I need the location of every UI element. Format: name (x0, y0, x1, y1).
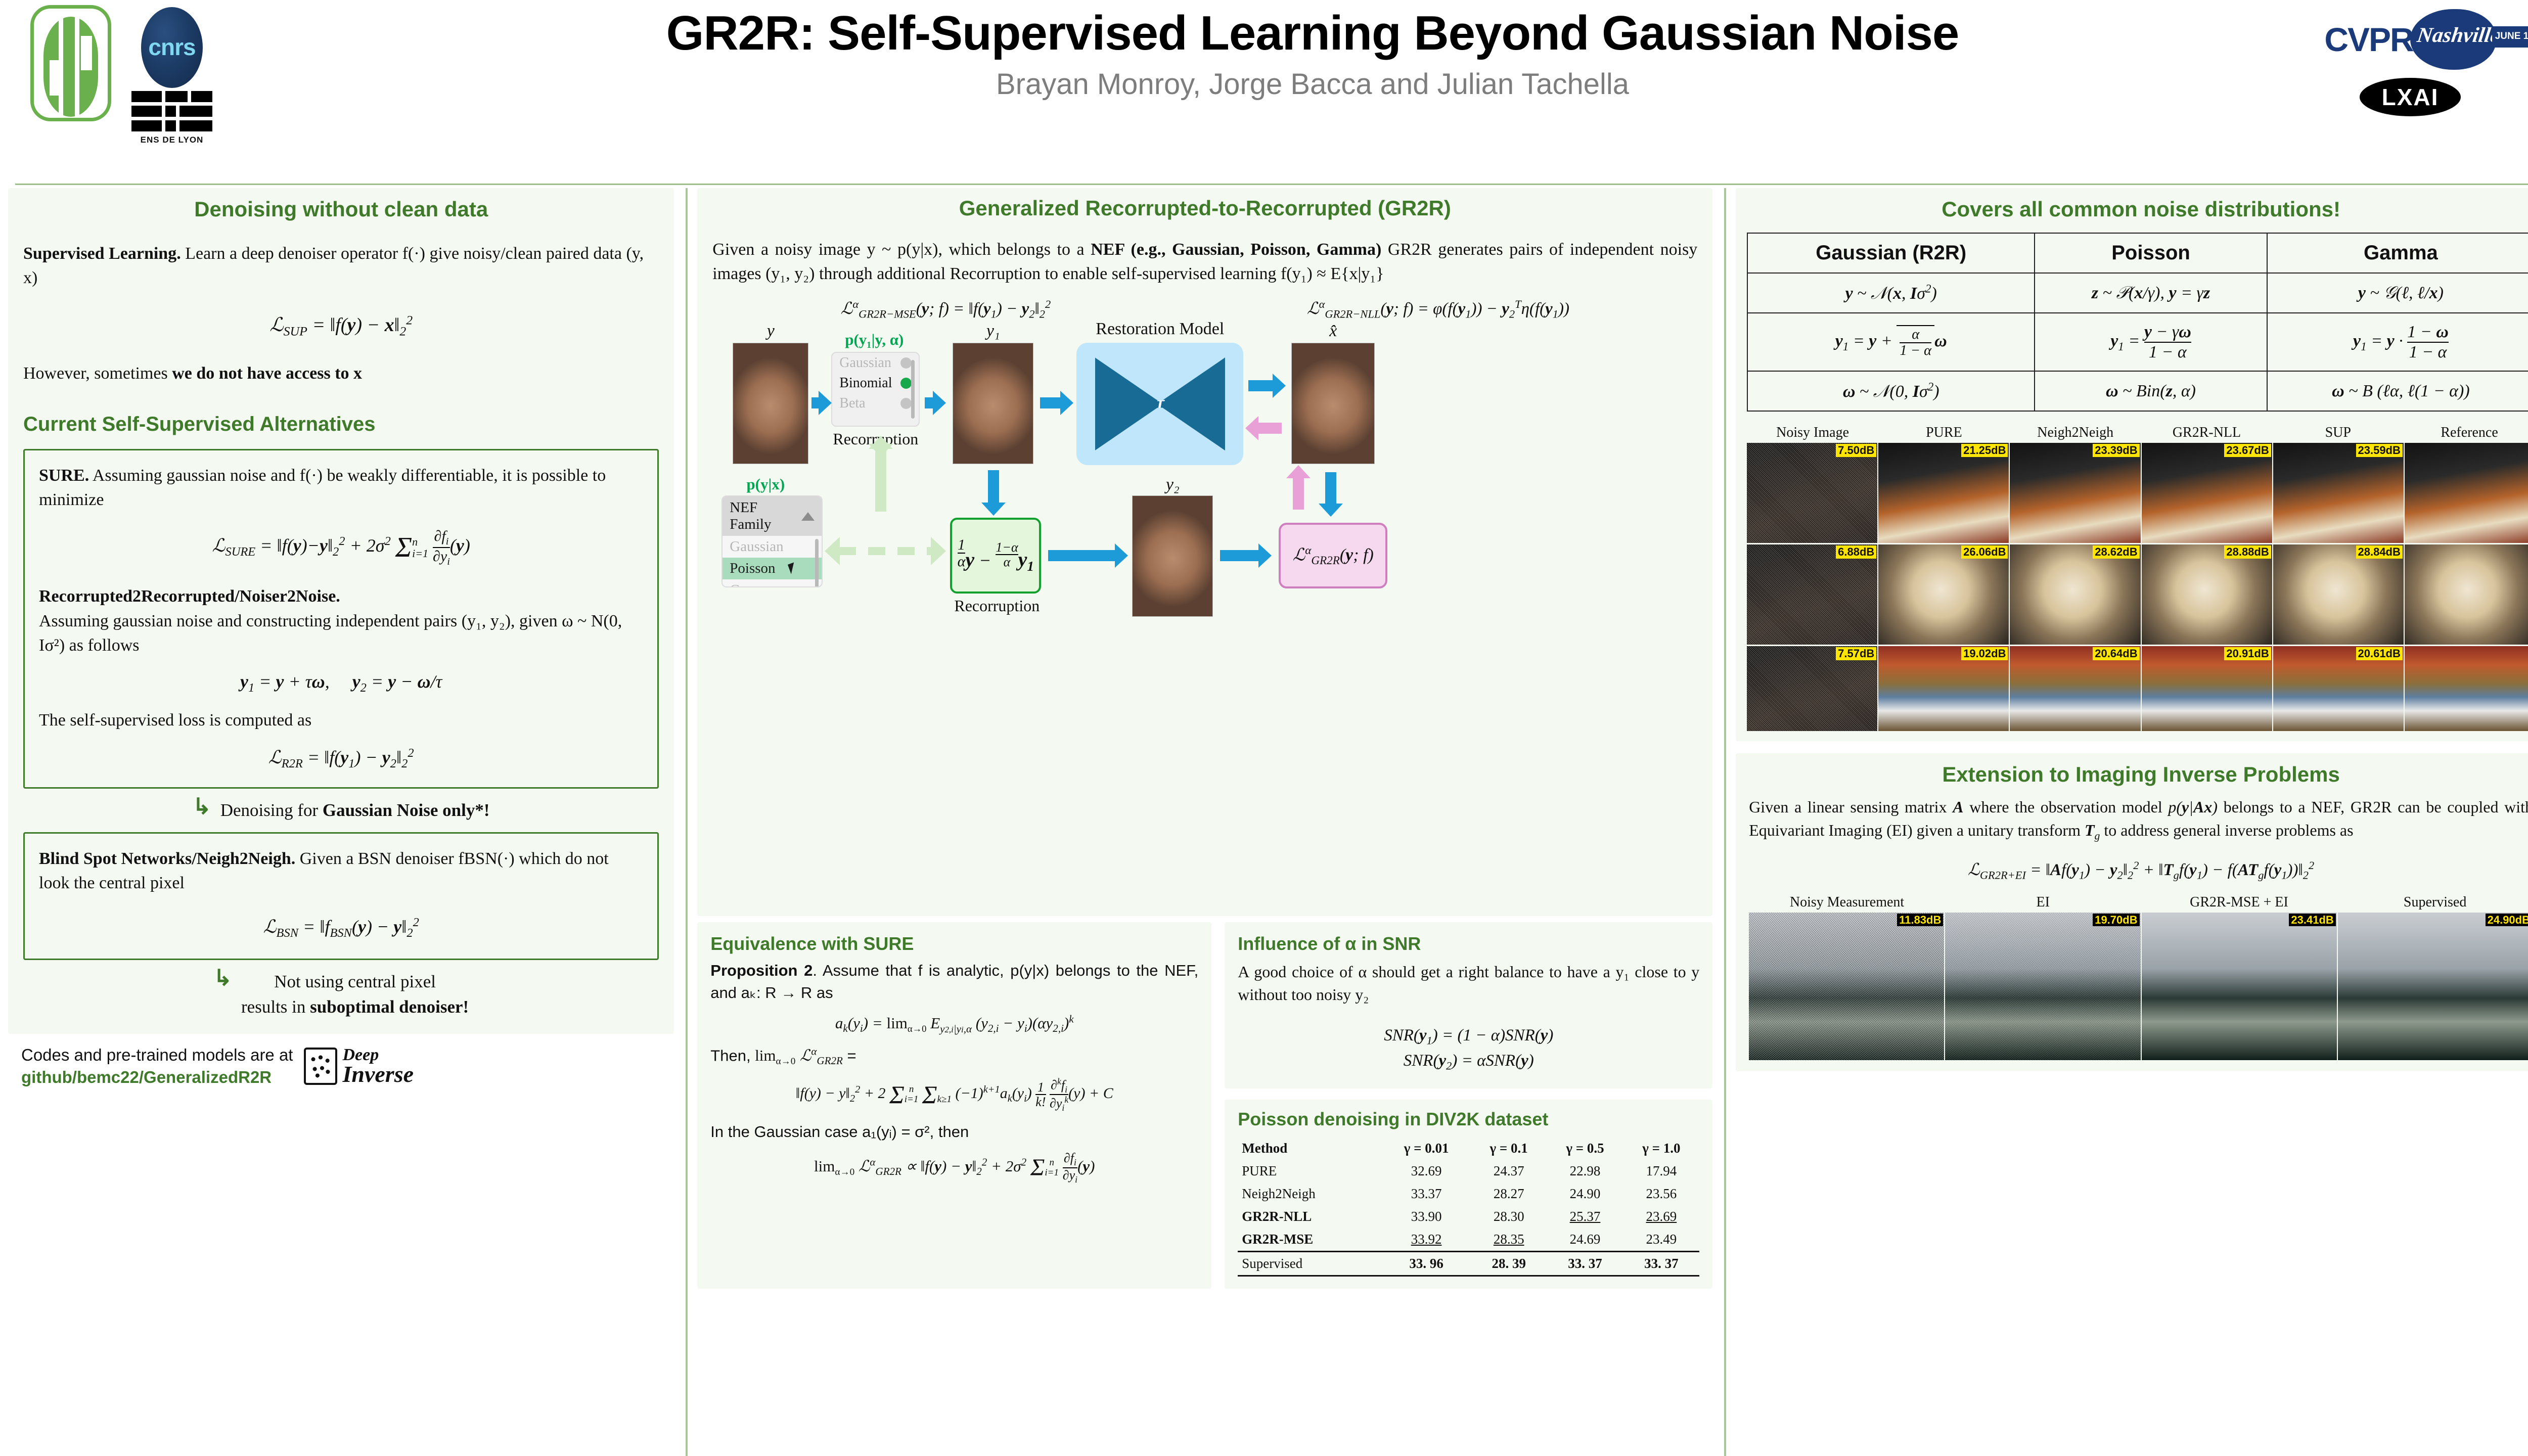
note1-prefix: Denoising for (220, 800, 323, 820)
hook-arrow-icon-2: ↳ (213, 969, 232, 987)
sure-text: Assuming gaussian noise and f(·) be weak… (39, 466, 606, 509)
diagram-label-y2: y₂ (1132, 475, 1213, 494)
cvpr-dates-label: JUNE 11-15, 2025 (2495, 31, 2528, 42)
codes-link[interactable]: github/bemc22/GeneralizedR2R (21, 1068, 272, 1086)
recorruption-option-binomial-label: Binomial (839, 375, 892, 391)
psnr-badge: 28.84dB (2356, 545, 2403, 558)
header-divider (15, 184, 2528, 185)
cell-value: 33. 96 (1382, 1252, 1471, 1276)
poster-root: cnrs ENS DE LYON GR2R: Self-Supervised L… (0, 0, 2528, 1456)
col-gaussian: Gaussian (R2R) (1747, 233, 2035, 273)
cell-poisson-model: z ~ 𝒫(x/γ), y = γz (2035, 273, 2267, 313)
diagram-label-y1: y₁ (953, 322, 1033, 341)
cell-value: 22.98 (1547, 1160, 1623, 1182)
section-title-alternatives: Current Self-Supervised Alternatives (23, 413, 659, 436)
ghost-arrow-left-icon (825, 537, 840, 565)
result-cell: 19.02dB (1878, 646, 2009, 731)
grid-label-pure: PURE (1878, 425, 2010, 441)
equation-bsn: ℒBSN = ‖fBSN(y) − y‖22 (39, 916, 643, 940)
cell-poisson-y1: y1 = y − γω1 − α (2035, 313, 2267, 371)
poster-columns: Denoising without clean data Supervised … (0, 188, 2528, 1456)
cell-gaussian-model: y ~ 𝒩(x, Iσ2) (1747, 273, 2035, 313)
grid-label-sup: SUP (2272, 425, 2404, 441)
gr2r-loss-equations: ℒαGR2R−MSE(y; f) = ‖f(y1) − y2‖22 ℒαGR2R… (712, 298, 1697, 321)
equation-r2r: ℒR2R = ‖f(y1) − y2‖22 (39, 746, 643, 771)
result-cell (2405, 443, 2528, 543)
result-cell: 7.57dB (1747, 646, 1877, 731)
arrow-y2-to-loss (1220, 550, 1259, 561)
cell-value: 28.30 (1471, 1205, 1547, 1228)
arrow-xhat-to-model (1257, 423, 1282, 434)
radio-icon-binomial[interactable] (900, 378, 912, 389)
result-cell (2405, 544, 2528, 645)
inverse-cell: 19.70dB (1945, 913, 2140, 1060)
equation-sure: ℒSURE = ‖f(y)−y‖22 + 2σ2 Σni=1 ∂fi∂yi(y) (39, 528, 643, 568)
page-title: GR2R: Self-Supervised Learning Beyond Ga… (354, 8, 2271, 59)
lxai-logo-icon: LXAI (2360, 78, 2461, 116)
section-title-equivalence: Equivalence with SURE (710, 933, 1198, 954)
cell-value: 33.90 (1382, 1205, 1471, 1228)
inv-label-supervised: Supervised (2337, 894, 2528, 911)
result-cell: 20.61dB (2273, 646, 2404, 731)
psnr-badge: 26.06dB (1961, 545, 2008, 558)
deepinverse-icon (304, 1048, 337, 1085)
inverse-cell: 24.90dB (2338, 913, 2528, 1060)
cell-gamma-y1: y1 = y · 1 − ω1 − α (2267, 313, 2528, 371)
model-f-label: f (1156, 388, 1164, 420)
arrow-xhat-down (1325, 472, 1336, 505)
psnr-badge: 20.91dB (2224, 647, 2271, 660)
diagram-image-y1 (953, 343, 1033, 464)
results-row-temple: 7.57dB 19.02dB 20.64dB 20.91dB 20.61dB (1747, 646, 2528, 731)
note2-line2-bold: suboptimal denoiser! (310, 997, 469, 1017)
cell-value: 28. 39 (1471, 1252, 1547, 1276)
cell-value: 24.37 (1471, 1160, 1547, 1182)
ghost-dashed-line (839, 547, 940, 555)
loss-box-label: ℒαGR2R(y; f) (1293, 544, 1374, 568)
supervised-learning-paragraph: Supervised Learning. Learn a deep denois… (23, 242, 659, 291)
cell-method: Supervised (1238, 1252, 1382, 1276)
inverse-row: 11.83dB 19.70dB 23.41dB 24.90dB (1749, 913, 2528, 1060)
cell-value: 25.37 (1547, 1205, 1623, 1228)
cell-gamma-model: y ~ 𝒢(ℓ, ℓ/x) (2267, 273, 2528, 313)
lxai-label: LXAI (2382, 83, 2439, 111)
note1-bold: Gaussian Noise only*! (323, 800, 490, 820)
equation-gr2r-ei: ℒGR2R+EI = ‖Af(y1) − y2‖22 + ‖Tgf(y1) − … (1749, 859, 2528, 882)
cell-method: Neigh2Neigh (1238, 1182, 1382, 1205)
panel-equivalence-sure: Equivalence with SURE Proposition 2. Ass… (697, 922, 1211, 1289)
bsn-lead: Blind Spot Networks/Neigh2Neigh. (39, 849, 295, 868)
cell-value: 33.37 (1382, 1182, 1471, 1205)
psnr-badge: 23.59dB (2356, 444, 2403, 457)
psnr-badge: 20.64dB (2093, 647, 2139, 660)
section-title-snr: Influence of α in SNR (1238, 933, 1699, 954)
inverse-cell: 23.41dB (2142, 913, 2337, 1060)
inverse-cell: 11.83dB (1749, 913, 1944, 1060)
gr2r-p1: Given a noisy image y ~ p(y|x), which be… (712, 240, 1091, 259)
inverse-grid-labels: Noisy Measurement EI GR2R-MSE + EI Super… (1749, 894, 2528, 911)
ghost-arrow-up (875, 448, 886, 512)
however-bold: we do not have access to x (172, 364, 362, 383)
panel-noise-distributions: Covers all common noise distributions! G… (1736, 188, 2528, 741)
arrow-recorruption-to-y1 (925, 397, 934, 408)
column-middle: Generalized Recorrupted-to-Recorrupted (… (697, 188, 1712, 1456)
table-row: Supervised 33. 96 28. 39 33. 37 33. 37 (1238, 1252, 1699, 1276)
title-block: GR2R: Self-Supervised Learning Beyond Ga… (354, 8, 2271, 101)
gr2r-paragraph: Given a noisy image y ~ p(y|x), which be… (712, 238, 1697, 287)
nef-option-gamma[interactable]: Gamma (723, 579, 822, 587)
right-logos: CVPR Nashville JUNE 11-15, 2025 LXAI (2291, 9, 2528, 116)
psnr-badge: 28.62dB (2093, 545, 2139, 558)
cnrs-ens-logos: cnrs ENS DE LYON (131, 7, 212, 145)
diagram-prob-y: p(y|x) (717, 475, 814, 493)
recorruption-scrollbar[interactable] (911, 360, 915, 419)
nef-dropdown-header[interactable]: NEF Family (723, 496, 822, 536)
r2r-paragraph: Recorrupted2Recorrupted/Noiser2Noise. As… (39, 584, 643, 658)
cell-value: 32.69 (1382, 1160, 1471, 1182)
hook-arrow-icon: ↳ (193, 798, 211, 815)
gaussian-case-line: In the Gaussian case a₁(yᵢ) = σ², then (710, 1121, 1198, 1143)
psnr-badge: 20.61dB (2356, 647, 2403, 660)
column-left: Denoising without clean data Supervised … (8, 188, 674, 1456)
nef-header-label: NEF Family (730, 499, 801, 533)
supervised-lead: Supervised Learning. (23, 244, 181, 263)
poster-header: cnrs ENS DE LYON GR2R: Self-Supervised L… (0, 0, 2528, 187)
equation-gr2r-nll: ℒαGR2R−NLL(y; f) = φ(f(y1)) − y2Tη(f(y1)… (1307, 298, 1569, 321)
cell-value: 24.90 (1547, 1182, 1623, 1205)
nef-option-poisson[interactable]: Poisson (723, 558, 822, 579)
table-row: GR2R-MSE 33.92 28.35 24.69 23.49 (1238, 1228, 1699, 1252)
note-suboptimal: ↳ Not using central pixel results in sub… (23, 969, 659, 1019)
nef-option-gaussian[interactable]: Gaussian (723, 536, 822, 558)
section-title-distributions: Covers all common noise distributions! (1747, 197, 2528, 221)
inverse-image-grid: Noisy Measurement EI GR2R-MSE + EI Super… (1749, 894, 2528, 1060)
cell-method: PURE (1238, 1160, 1382, 1182)
inv-label-gr2rmse-ei: GR2R-MSE + EI (2141, 894, 2337, 911)
arrow-y1-down (988, 470, 999, 504)
cnrs-label: cnrs (141, 33, 203, 61)
panel-inverse-problems: Extension to Imaging Inverse Problems Gi… (1736, 753, 2528, 1071)
equation-pair: y1 = y + τω, y2 = y − ω/τ (39, 671, 643, 695)
grid-label-gr2rnll: GR2R-NLL (2141, 425, 2273, 441)
psnr-badge: 24.90dB (2486, 914, 2528, 926)
cell-method: GR2R-MSE (1238, 1228, 1382, 1252)
cell-value: 23.56 (1623, 1182, 1699, 1205)
recorruption-selector[interactable]: Gaussian Binomial Beta (831, 352, 920, 427)
cell-value: 28.27 (1471, 1182, 1547, 1205)
section-title-denoising: Denoising without clean data (23, 197, 659, 221)
section-title-extension: Extension to Imaging Inverse Problems (1749, 762, 2528, 787)
note2-line1: Not using central pixel (274, 972, 436, 991)
table-row: y1 = y + α1 − αω y1 = y − γω1 − α y1 = y… (1747, 313, 2528, 371)
col-g10: γ = 1.0 (1623, 1137, 1699, 1160)
arrow-y-to-recorruption (811, 397, 820, 408)
snr-paragraph: A good choice of α should get a right ba… (1238, 961, 1699, 1007)
note-gaussian-only: ↳ Denoising for Gaussian Noise only*! (23, 798, 659, 823)
results-image-grid: Noisy Image PURE Neigh2Neigh GR2R-NLL SU… (1747, 425, 2528, 731)
psnr-badge: 23.41dB (2289, 914, 2335, 926)
recorruption-option-gaussian[interactable]: Gaussian (832, 353, 919, 373)
table-header-row: Method γ = 0.01 γ = 0.1 γ = 0.5 γ = 1.0 (1238, 1137, 1699, 1160)
uis-logo-icon (30, 5, 111, 121)
results-grid-labels: Noisy Image PURE Neigh2Neigh GR2R-NLL SU… (1747, 425, 2528, 441)
cell-value: 17.94 (1623, 1160, 1699, 1182)
nef-family-dropdown[interactable]: NEF Family Gaussian Poisson Gamma (721, 495, 823, 587)
diagram-image-xhat (1291, 343, 1375, 464)
column-divider-2 (1712, 188, 1736, 1456)
results-row-food: 7.50dB 21.25dB 23.39dB 23.67dB 23.59dB (1747, 443, 2528, 543)
ens-logo-icon: ENS DE LYON (131, 91, 212, 145)
left-logos: cnrs ENS DE LYON (30, 5, 212, 145)
loss-intro: The self-supervised loss is computed as (39, 708, 643, 733)
equation-ak: ak(yi) = limα→0 Ey2,i|yi,α (y2,i − yi)(α… (710, 1013, 1198, 1035)
result-cell: 7.50dB (1747, 443, 1877, 543)
table-row: PURE 32.69 24.37 22.98 17.94 (1238, 1160, 1699, 1182)
result-cell: 23.67dB (2142, 443, 2272, 543)
table-row: ω ~ 𝒩(0, Iσ2) ω ~ Bin(z, α) ω ~ B (ℓα, ℓ… (1747, 371, 2528, 411)
column-right: Covers all common noise distributions! G… (1736, 188, 2528, 1456)
column-divider-1 (674, 188, 697, 1456)
sure-lead: SURE. (39, 466, 89, 485)
cell-poisson-omega: ω ~ Bin(z, α) (2035, 371, 2267, 411)
cell-value: 23.69 (1623, 1205, 1699, 1228)
panel-influence-alpha: Influence of α in SNR A good choice of α… (1225, 922, 1712, 1088)
equation-sup: ℒSUP = ‖f(y) − x‖22 (23, 313, 659, 339)
codes-line: Codes and pre-trained models are at (21, 1045, 293, 1064)
diagram-image-y2 (1132, 495, 1213, 617)
grid-label-n2n: Neigh2Neigh (2010, 425, 2141, 441)
inv-label-ei: EI (1945, 894, 2141, 911)
chevron-up-icon[interactable] (801, 512, 815, 521)
psnr-badge: 28.88dB (2224, 545, 2271, 558)
cell-value: 28.35 (1471, 1228, 1547, 1252)
equation-gauss-limit: limα→0 ℒαGR2R ∝ ‖f(y) − y‖22 + 2σ2 Σni=1… (710, 1151, 1198, 1185)
result-cell: 23.59dB (2273, 443, 2404, 543)
diagram-label-recorruption-bottom: Recorruption (942, 597, 1051, 615)
however-paragraph: However, sometimes we do not have access… (23, 361, 659, 386)
arrow-recorruption-to-y2 (1048, 550, 1116, 561)
section-title-div2k: Poisson denoising in DIV2K dataset (1238, 1109, 1699, 1130)
arrow-loss-up (1293, 477, 1304, 510)
r2r-lead: Recorrupted2Recorrupted/Noiser2Noise. (39, 587, 340, 606)
author-list: Brayan Monroy, Jorge Bacca and Julian Ta… (354, 67, 2271, 101)
cvpr-logo-icon: CVPR Nashville JUNE 11-15, 2025 (2324, 9, 2496, 70)
section-title-gr2r: Generalized Recorrupted-to-Recorrupted (… (712, 196, 1697, 220)
ghost-arrow-right-icon (931, 537, 946, 565)
r2r-text: Assuming gaussian noise and constructing… (39, 612, 622, 655)
psnr-badge: 7.57dB (1836, 647, 1876, 660)
results-row-rose: 6.88dB 26.06dB 28.62dB 28.88dB 28.84dB (1747, 544, 2528, 645)
inv-label-noisy: Noisy Measurement (1749, 894, 1945, 911)
mid-bottom-panels: Equivalence with SURE Proposition 2. Ass… (697, 922, 1712, 1289)
cell-value: 33. 37 (1547, 1252, 1623, 1276)
result-cell: 28.84dB (2273, 544, 2404, 645)
codes-row: Codes and pre-trained models are at gith… (8, 1044, 674, 1089)
panel-div2k: Poisson denoising in DIV2K dataset Metho… (1225, 1100, 1712, 1289)
cvpr-label: CVPR (2324, 20, 2413, 59)
table-row: Neigh2Neigh 33.37 28.27 24.90 23.56 (1238, 1182, 1699, 1205)
ens-label: ENS DE LYON (131, 135, 212, 145)
radio-icon-beta[interactable] (900, 398, 912, 409)
result-cell (2405, 646, 2528, 731)
recorruption-option-binomial[interactable]: Binomial (832, 373, 919, 393)
col-g01: γ = 0.1 (1471, 1137, 1547, 1160)
arrow-model-to-xhat (1248, 380, 1274, 391)
cell-value: 33.92 (1382, 1228, 1471, 1252)
psnr-badge: 7.50dB (1836, 444, 1876, 457)
panel-denoising-without-clean-data: Denoising without clean data Supervised … (8, 188, 674, 1034)
result-cell: 20.91dB (2142, 646, 2272, 731)
col-g001: γ = 0.01 (1382, 1137, 1471, 1160)
deepinverse-word-2: Inverse (342, 1063, 414, 1085)
cell-method: GR2R-NLL (1238, 1205, 1382, 1228)
sure-paragraph: SURE. Assuming gaussian noise and f(·) b… (39, 464, 643, 513)
equation-gr2r-mse: ℒαGR2R−MSE(y; f) = ‖f(y1) − y2‖22 (841, 298, 1051, 321)
col-poisson: Poisson (2035, 233, 2267, 273)
cell-gamma-omega: ω ~ B (ℓα, ℓ(1 − α)) (2267, 371, 2528, 411)
diagram-prob-y1: p(y₁|y, α) (816, 331, 932, 349)
psnr-badge: 23.67dB (2224, 444, 2271, 457)
restoration-model-block: f (1076, 343, 1243, 465)
extension-paragraph: Given a linear sensing matrix A where th… (1749, 796, 2528, 844)
psnr-badge: 19.02dB (1961, 647, 2008, 660)
result-cell: 28.62dB (2010, 544, 2140, 645)
cell-value: 33. 37 (1623, 1252, 1699, 1276)
deepinverse-logo: Deep Inverse (304, 1047, 414, 1086)
proposition-paragraph: Proposition 2. Assume that f is analytic… (710, 960, 1198, 1004)
note2-line2-prefix: results in (241, 997, 310, 1017)
bsn-paragraph: Blind Spot Networks/Neigh2Neigh. Given a… (39, 847, 643, 896)
proposition-lead: Proposition 2 (710, 962, 812, 979)
then-line: Then, limα→0 ℒαGR2R = (710, 1044, 1198, 1069)
result-cell: 6.88dB (1747, 544, 1877, 645)
div2k-results-table: Method γ = 0.01 γ = 0.1 γ = 0.5 γ = 1.0 … (1238, 1137, 1699, 1277)
recorruption-option-gaussian-label: Gaussian (839, 355, 891, 371)
recorruption-formula: 1αy − 1−ααy1 (958, 537, 1034, 575)
table-row: y ~ 𝒩(x, Iσ2) z ~ 𝒫(x/γ), y = γz y ~ 𝒢(ℓ… (1747, 273, 2528, 313)
nef-scrollbar[interactable] (815, 539, 819, 587)
box-sure-r2r: SURE. Assuming gaussian noise and f(·) b… (23, 449, 659, 789)
psnr-badge: 23.39dB (2093, 444, 2139, 457)
grid-label-reference: Reference (2404, 425, 2528, 441)
result-cell: 23.39dB (2010, 443, 2140, 543)
col-method: Method (1238, 1137, 1382, 1160)
however-text: However, sometimes (23, 364, 172, 383)
panel-gr2r: Generalized Recorrupted-to-Recorrupted (… (697, 188, 1712, 916)
grid-label-noisy: Noisy Image (1747, 425, 1878, 441)
cell-value: 24.69 (1547, 1228, 1623, 1252)
result-cell: 21.25dB (1878, 443, 2009, 543)
result-cell: 28.88dB (2142, 544, 2272, 645)
gr2r-p-bold: NEF (e.g., Gaussian, Poisson, Gamma) (1091, 240, 1381, 259)
psnr-badge: 6.88dB (1836, 545, 1876, 558)
cnrs-logo-icon: cnrs (141, 7, 203, 88)
table-row: GR2R-NLL 33.90 28.30 25.37 23.69 (1238, 1205, 1699, 1228)
result-cell: 20.64dB (2010, 646, 2140, 731)
diagram-image-y (733, 343, 808, 464)
box-bsn: Blind Spot Networks/Neigh2Neigh. Given a… (23, 832, 659, 961)
result-cell: 26.06dB (1878, 544, 2009, 645)
radio-icon-gaussian[interactable] (900, 357, 912, 369)
equation-expansion: ‖f(y) − y‖22 + 2 Σni=1 Σ k≥1 (−1)k+1ak(y… (710, 1077, 1198, 1113)
psnr-badge: 11.83dB (1897, 914, 1943, 926)
arrow-y1-to-model (1040, 397, 1061, 408)
recorruption-option-beta[interactable]: Beta (832, 393, 919, 414)
psnr-badge: 19.70dB (2093, 914, 2139, 926)
col-g05: γ = 0.5 (1547, 1137, 1623, 1160)
diagram-label-y: y (733, 322, 808, 341)
psnr-badge: 21.25dB (1961, 444, 2008, 457)
diagram-label-model: Restoration Model (1061, 320, 1258, 339)
cvpr-city-label: Nashville (2415, 23, 2501, 48)
equations-snr: SNR(y1) = (1 − α)SNR(y) SNR(y2) = αSNR(y… (1238, 1024, 1699, 1074)
gr2r-pipeline-diagram: y p(y₁|y, α) Gaussian Binomial Beta (712, 326, 1697, 629)
cell-gaussian-y1: y1 = y + α1 − αω (1747, 313, 2035, 371)
diagram-label-xhat: x̂ (1291, 322, 1375, 341)
gr2r-loss-box: ℒαGR2R(y; f) (1279, 523, 1387, 588)
recorruption-formula-box: 1αy − 1−ααy1 (950, 518, 1041, 594)
recorruption-option-beta-label: Beta (839, 395, 865, 412)
cell-gaussian-omega: ω ~ 𝒩(0, Iσ2) (1747, 371, 2035, 411)
cell-value: 23.49 (1623, 1228, 1699, 1252)
table-header-row: Gaussian (R2R) Poisson Gamma (1747, 233, 2528, 273)
noise-distributions-table: Gaussian (R2R) Poisson Gamma y ~ 𝒩(x, Iσ… (1747, 233, 2528, 412)
col-gamma: Gamma (2267, 233, 2528, 273)
